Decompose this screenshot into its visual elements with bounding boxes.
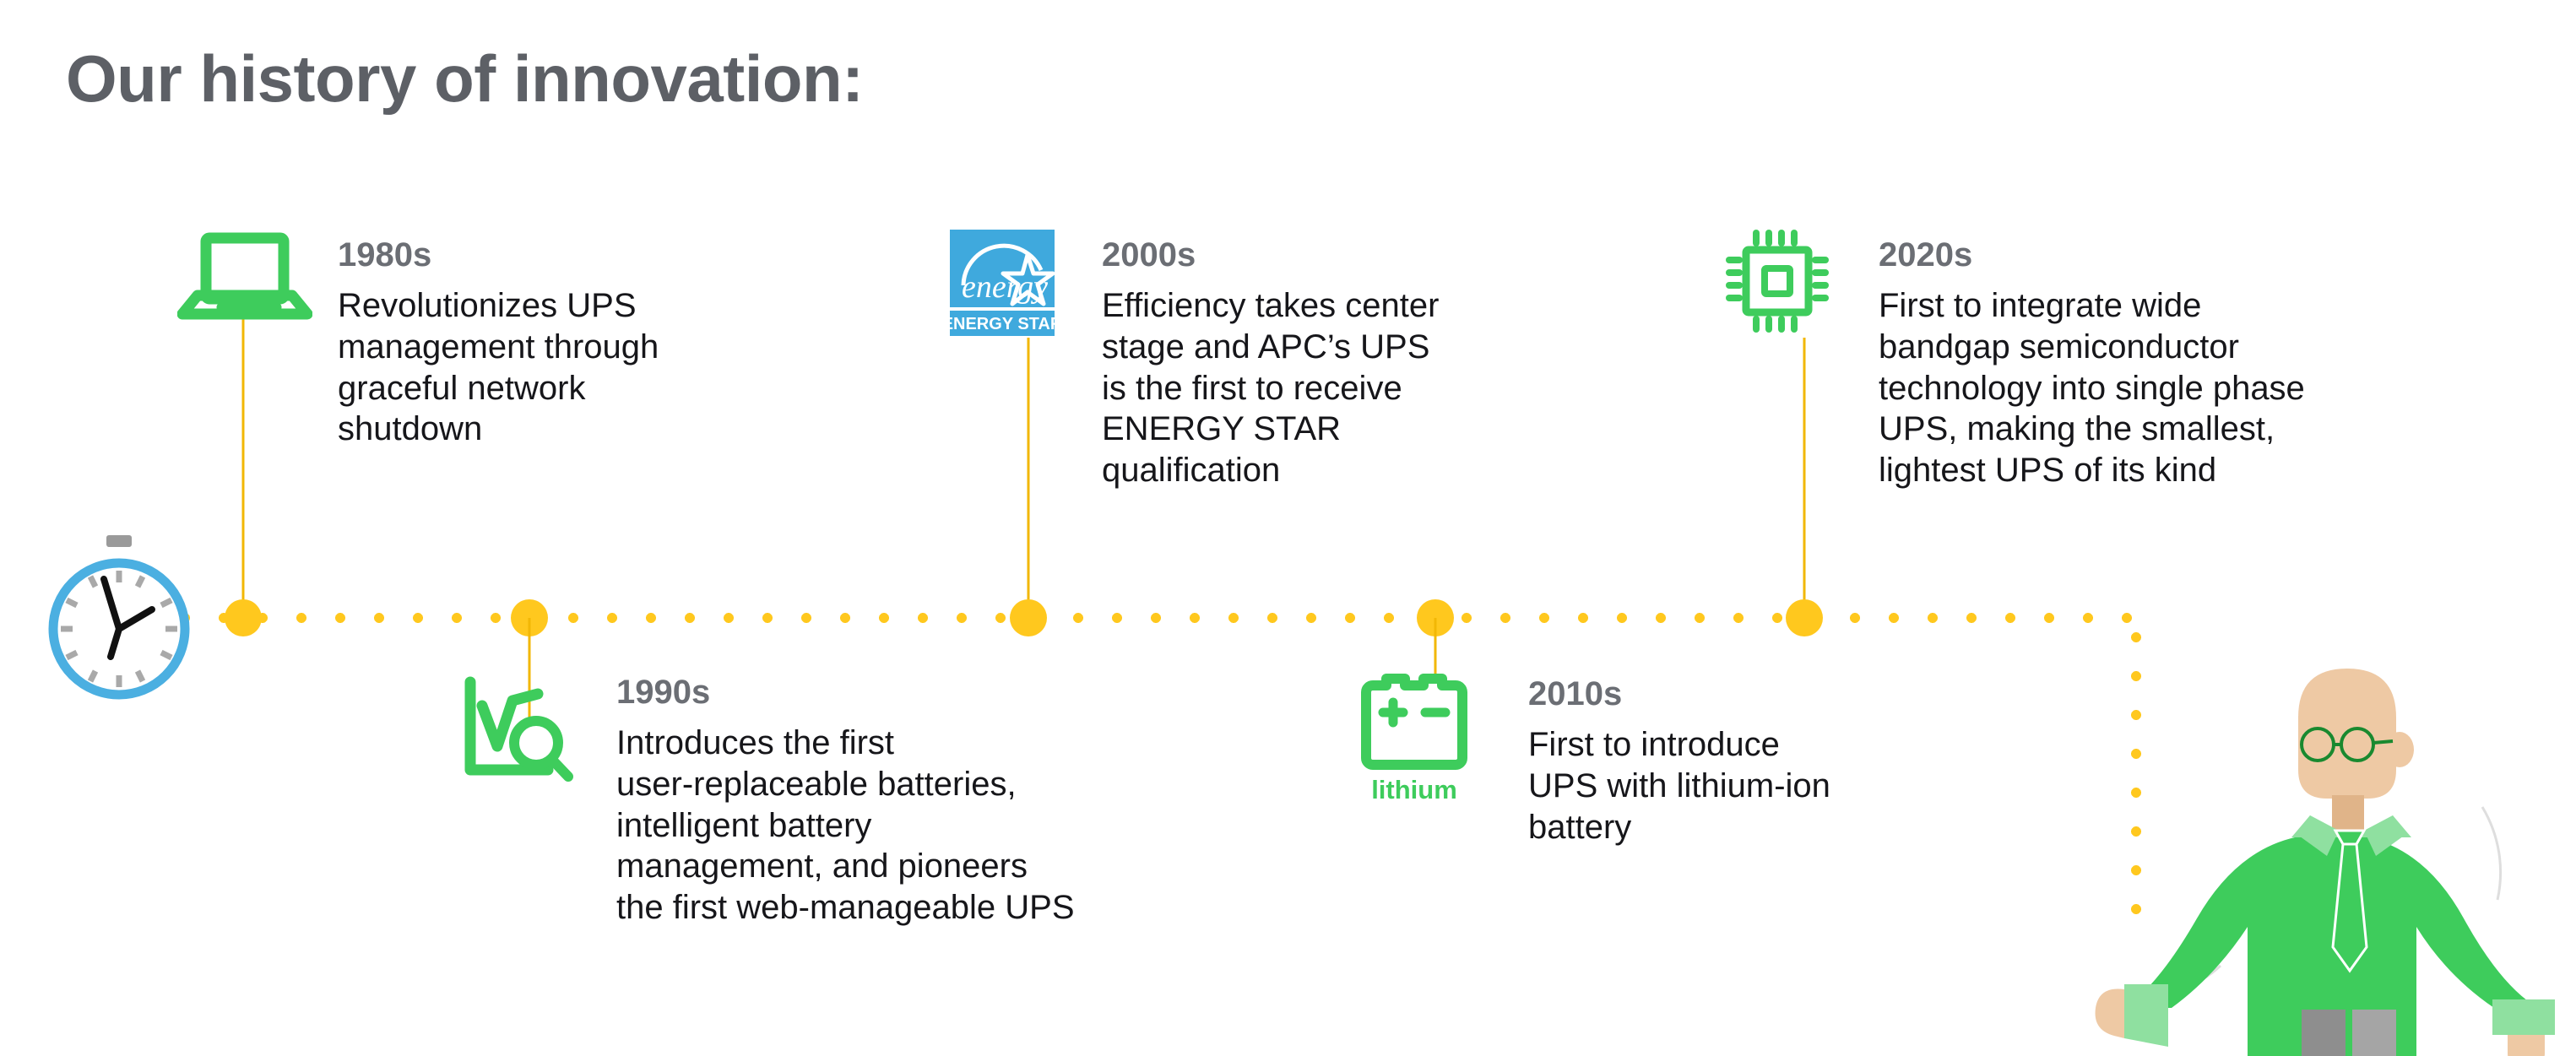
energy-star-logo: energy ENERGY STAR — [950, 230, 1055, 340]
desc-line: graceful network — [338, 368, 954, 409]
timeline-stem-2000s — [1028, 338, 1030, 618]
laptop-icon — [177, 230, 312, 327]
desc-line: shutdown — [338, 409, 954, 450]
svg-text:ENERGY STAR: ENERGY STAR — [950, 315, 1055, 333]
entry-2020s-text: 2020s First to integrate wide bandgap se… — [1879, 238, 2576, 491]
desc-line: technology into single phase — [1879, 368, 2576, 409]
entry-2020s-year: 2020s — [1879, 238, 2576, 272]
microchip-icon — [1722, 226, 1832, 340]
desc-line: First to integrate wide — [1879, 285, 2576, 327]
desc-line: Efficiency takes center — [1102, 285, 1693, 327]
desc-line: First to introduce — [1528, 724, 2052, 766]
entry-1990s-text: 1990s Introduces the first user-replacea… — [616, 675, 1334, 929]
timeline-dot-2000s[interactable] — [1010, 599, 1047, 636]
entry-2010s-description: First to introduce UPS with lithium-ion … — [1528, 724, 2052, 848]
timeline-stem-2020s — [1803, 338, 1806, 618]
desc-line: Revolutionizes UPS — [338, 285, 954, 327]
person-illustration — [2085, 642, 2576, 1056]
desc-line: UPS, making the smallest, — [1879, 409, 2576, 450]
chart-magnifier-icon — [460, 675, 587, 789]
desc-line: intelligent battery — [616, 805, 1334, 847]
entry-1980s-year: 1980s — [338, 238, 954, 272]
entry-1980s-text: 1980s Revolutionizes UPS management thro… — [338, 238, 954, 450]
desc-line: qualification — [1102, 450, 1693, 491]
entry-1980s-description: Revolutionizes UPS management through gr… — [338, 285, 954, 450]
entry-1990s-year: 1990s — [616, 675, 1334, 709]
desc-line: battery — [1528, 807, 2052, 848]
desc-line: user-replaceable batteries, — [616, 764, 1334, 805]
timeline-dot-2020s[interactable] — [1786, 599, 1823, 636]
desc-line: the first web-manageable UPS — [616, 887, 1334, 929]
desc-line: is the first to receive — [1102, 368, 1693, 409]
desc-line: stage and APC’s UPS — [1102, 327, 1693, 368]
entry-2010s-text: 2010s First to introduce UPS with lithiu… — [1528, 677, 2052, 848]
desc-line: management through — [338, 327, 954, 368]
entry-2000s-text: 2000s Efficiency takes center stage and … — [1102, 238, 1693, 491]
desc-line: ENERGY STAR — [1102, 409, 1693, 450]
stopwatch-icon — [42, 532, 194, 709]
desc-line: Introduces the first — [616, 723, 1334, 764]
timeline-axis — [127, 613, 2153, 623]
timeline-dot-1980s[interactable] — [225, 599, 262, 636]
entry-2000s-description: Efficiency takes center stage and APC’s … — [1102, 285, 1693, 491]
entry-1990s-description: Introduces the first user-replaceable ba… — [616, 723, 1334, 929]
timeline-stem-2010s — [1434, 618, 1437, 677]
svg-text:lithium: lithium — [1371, 775, 1457, 804]
desc-line: UPS with lithium-ion — [1528, 766, 2052, 807]
page-title: Our history of innovation: — [66, 41, 864, 117]
lithium-battery-icon: lithium — [1351, 674, 1478, 813]
svg-text:energy: energy — [962, 269, 1048, 305]
timeline-stem-1980s — [242, 314, 245, 618]
entry-2010s-year: 2010s — [1528, 677, 2052, 711]
entry-2020s-description: First to integrate wide bandgap semicond… — [1879, 285, 2576, 491]
infographic-canvas: Our history of innovation: — [0, 0, 2576, 1056]
desc-line: management, and pioneers — [616, 846, 1334, 887]
desc-line: bandgap semiconductor — [1879, 327, 2576, 368]
entry-2000s-year: 2000s — [1102, 238, 1693, 272]
desc-line: lightest UPS of its kind — [1879, 450, 2576, 491]
